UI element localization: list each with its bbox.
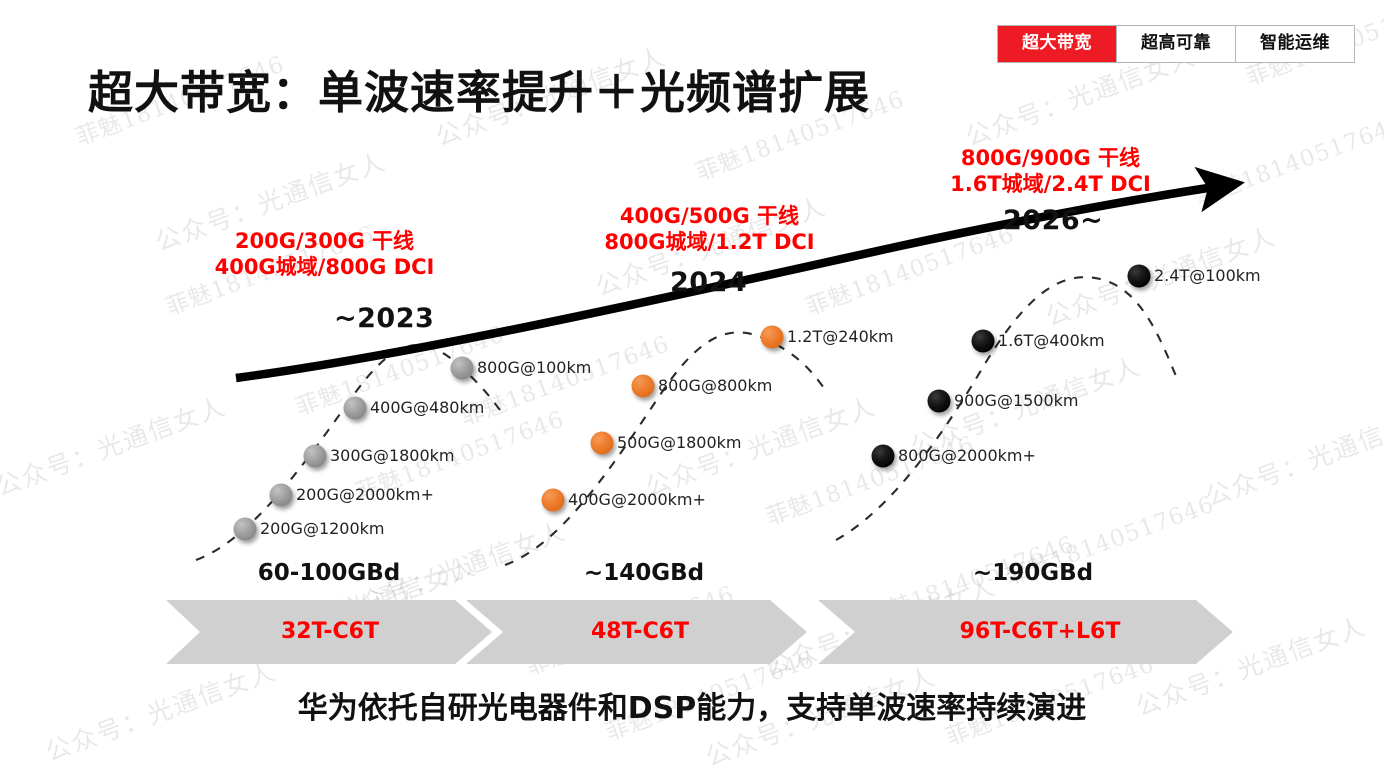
data-point-dot bbox=[304, 445, 327, 468]
data-point-label: 200G@2000km+ bbox=[296, 485, 434, 504]
annotation-note-2023-line1: 200G/300G 干线 bbox=[152, 228, 497, 254]
topic-tab-2[interactable]: 超高可靠 bbox=[1117, 26, 1236, 62]
data-point-dot bbox=[542, 489, 565, 512]
data-point-dot bbox=[451, 357, 474, 380]
year-label-2023: ~2023 bbox=[334, 303, 434, 334]
annotation-note-2026-line2: 1.6T城域/2.4T DCI bbox=[878, 171, 1223, 197]
data-point-dot bbox=[972, 330, 995, 353]
topic-tab-1[interactable]: 超大带宽 bbox=[998, 26, 1117, 62]
annotation-note-2024-line2: 800G城域/1.2T DCI bbox=[537, 229, 882, 255]
annotation-note-2024: 400G/500G 干线 800G城域/1.2T DCI bbox=[537, 203, 882, 255]
chevron-label-2024: 48T-C6T bbox=[490, 619, 790, 644]
footer-caption: 华为依托自研光电器件和DSP能力，支持单波速率持续演进 bbox=[0, 683, 1384, 727]
data-point-label: 800G@2000km+ bbox=[898, 446, 1036, 465]
topic-tab-3[interactable]: 智能运维 bbox=[1236, 26, 1354, 62]
annotation-note-2026-line1: 800G/900G 干线 bbox=[878, 145, 1223, 171]
annotation-note-2023-line2: 400G城域/800G DCI bbox=[152, 254, 497, 280]
data-point-label: 2.4T@100km bbox=[1154, 266, 1261, 285]
data-point-label: 200G@1200km bbox=[260, 519, 385, 538]
annotation-note-2023: 200G/300G 干线 400G城域/800G DCI bbox=[152, 228, 497, 280]
data-point-label: 300G@1800km bbox=[330, 446, 455, 465]
data-point-dot bbox=[632, 375, 655, 398]
data-point-label: 1.2T@240km bbox=[787, 327, 894, 346]
topic-tab-group[interactable]: 超大带宽超高可靠智能运维 bbox=[998, 26, 1354, 62]
data-point-dot bbox=[1128, 265, 1151, 288]
year-label-2026: 2026~ bbox=[1003, 205, 1103, 236]
baud-label-2026: ~190GBd bbox=[870, 560, 1196, 586]
data-point-dot bbox=[928, 390, 951, 413]
data-point-label: 1.6T@400km bbox=[998, 331, 1105, 350]
data-point-label: 400G@2000km+ bbox=[568, 490, 706, 509]
data-point-label: 500G@1800km bbox=[617, 433, 742, 452]
baud-label-2024: ~140GBd bbox=[481, 560, 807, 586]
data-point-dot bbox=[761, 326, 784, 349]
data-point-dot bbox=[270, 484, 293, 507]
data-point-dot bbox=[234, 518, 257, 541]
annotation-note-2024-line1: 400G/500G 干线 bbox=[537, 203, 882, 229]
slide-canvas: 公众号：光通信女人公众号：光通信女人公众号：光通信女人公众号：光通信女人公众号：… bbox=[0, 0, 1384, 779]
year-label-2024: 2024 bbox=[670, 267, 747, 298]
data-point-dot bbox=[591, 432, 614, 455]
annotation-note-2026: 800G/900G 干线 1.6T城域/2.4T DCI bbox=[878, 145, 1223, 197]
data-point-dot bbox=[872, 445, 895, 468]
data-point-label: 400G@480km bbox=[370, 398, 484, 417]
chevron-label-2026: 96T-C6T+L6T bbox=[880, 619, 1200, 644]
chevron-label-2023: 32T-C6T bbox=[180, 619, 480, 644]
page-title: 超大带宽：单波速率提升＋光频谱扩展 bbox=[88, 56, 870, 121]
data-point-dot bbox=[344, 397, 367, 420]
data-point-label: 800G@800km bbox=[658, 376, 772, 395]
baud-label-2023: 60-100GBd bbox=[166, 560, 492, 586]
data-point-label: 900G@1500km bbox=[954, 391, 1079, 410]
data-point-label: 800G@100km bbox=[477, 358, 591, 377]
